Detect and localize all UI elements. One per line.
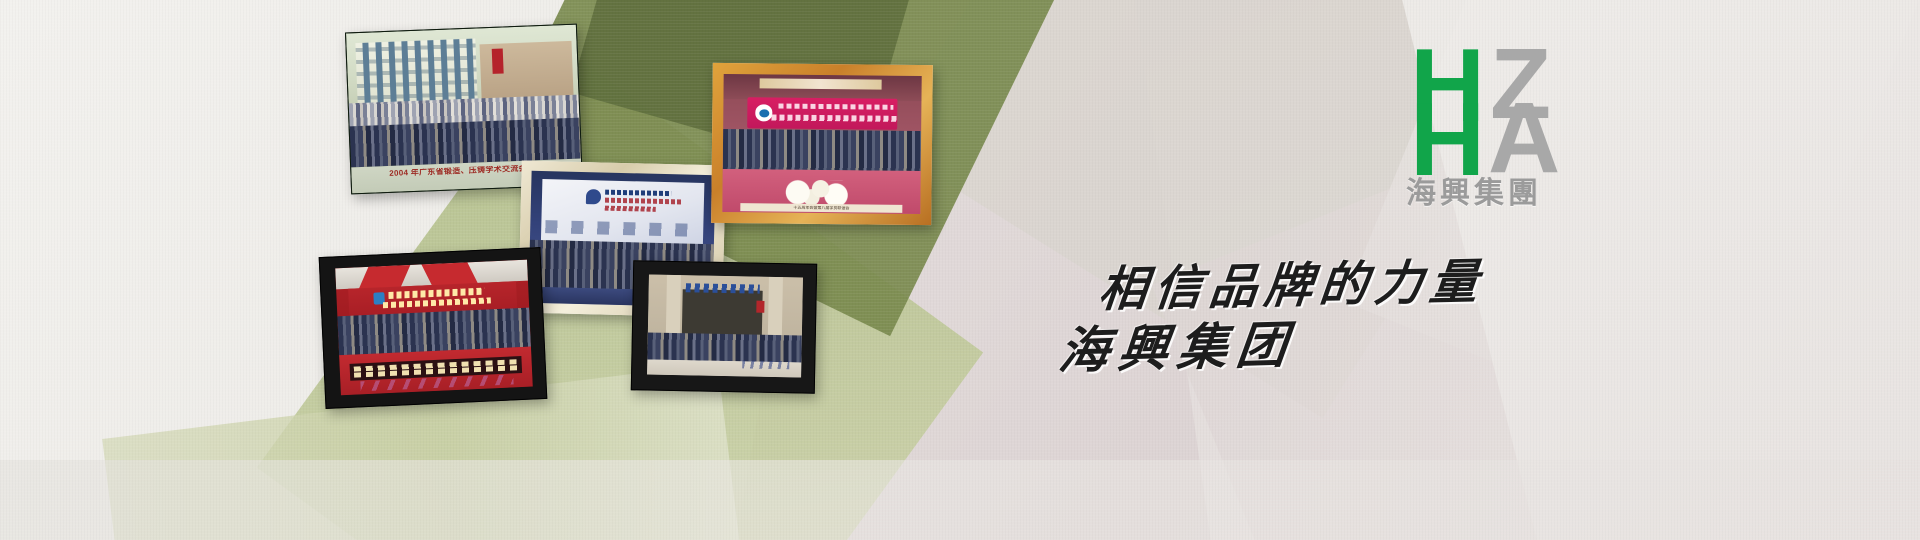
photo-pillar-right <box>768 277 783 339</box>
photo-pillar-left <box>666 275 681 337</box>
photo-frame-inner: 十五周年会暨第八届学员联谊会 <box>711 63 933 225</box>
photo-frame-inner <box>319 247 548 409</box>
photo-frame-building-group[interactable] <box>631 260 817 394</box>
photo-banner-line-1 <box>779 104 894 111</box>
photo-image <box>336 259 533 395</box>
photo-flowers <box>770 179 861 205</box>
photo-entrance <box>681 289 762 338</box>
hero-banner: 2004 年广东省锻造、压铸学术交流会留影 <box>0 0 1920 540</box>
logo-letter-marks: H H Z A <box>1410 48 1610 168</box>
photo-crowd-row <box>723 147 921 171</box>
photo-frame-academic-anniversary[interactable]: 十五周年会暨第八届学员联谊会 <box>711 63 933 225</box>
photo-image: 十五周年会暨第八届学员联谊会 <box>722 74 921 214</box>
photo-banner-logo-mark <box>759 109 769 117</box>
photo-frame-2014-ceremony[interactable] <box>319 247 548 409</box>
photo-flag <box>756 300 764 312</box>
slogan-line-2: 海興集团 <box>1056 305 1301 384</box>
background-bottom-strip <box>0 460 1920 540</box>
photo-ceiling-light <box>759 78 882 89</box>
brand-slogan: 相信品牌的力量 海興集团 <box>1060 246 1480 406</box>
photo-signature-overlay <box>743 360 790 369</box>
photo-award-logo <box>586 189 601 204</box>
photo-flag <box>492 48 504 74</box>
company-logo[interactable]: H H Z A 海興集團 <box>1376 48 1676 213</box>
photo-building-sign <box>685 283 759 293</box>
photo-frame-inner <box>631 260 817 394</box>
photo-image <box>647 274 804 377</box>
logo-company-name: 海興集團 <box>1406 168 1636 212</box>
photo-windows <box>356 38 478 108</box>
